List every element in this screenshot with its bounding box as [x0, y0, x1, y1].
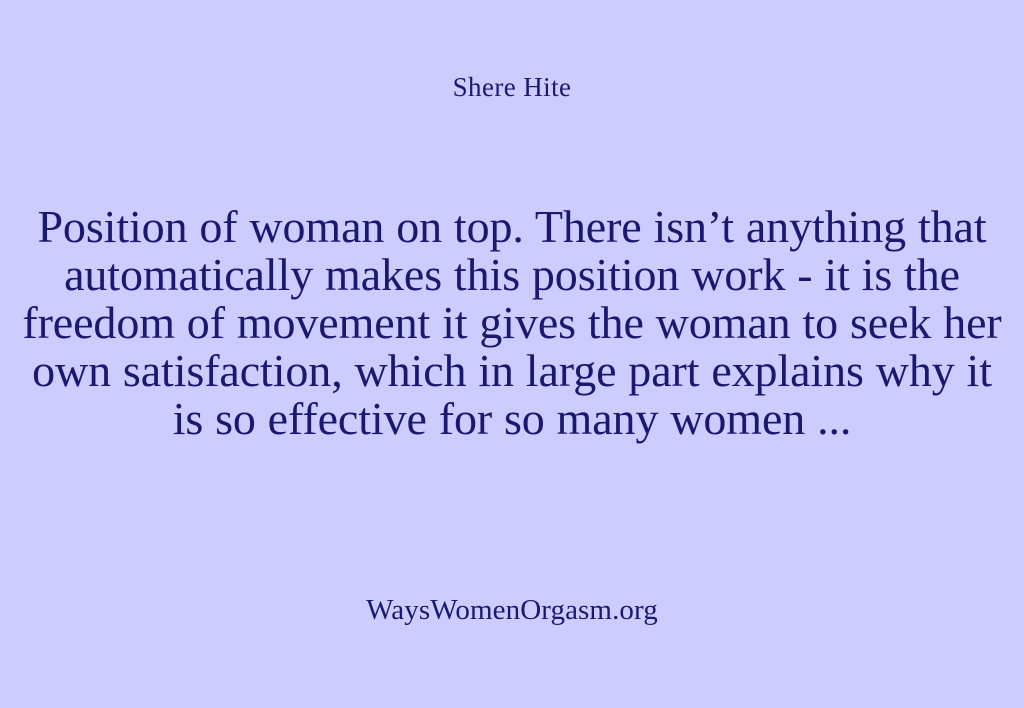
site-credit: WaysWomenOrgasm.org	[366, 594, 658, 627]
quote-card: Shere Hite Position of woman on top. The…	[0, 0, 1024, 708]
author-attribution: Shere Hite	[0, 72, 1024, 103]
author-name: Shere Hite	[453, 72, 572, 103]
quote-text: Position of woman on top. There isn’t an…	[22, 203, 1002, 443]
footer: WaysWomenOrgasm.org	[0, 594, 1024, 627]
quote-block: Position of woman on top. There isn’t an…	[0, 203, 1024, 443]
